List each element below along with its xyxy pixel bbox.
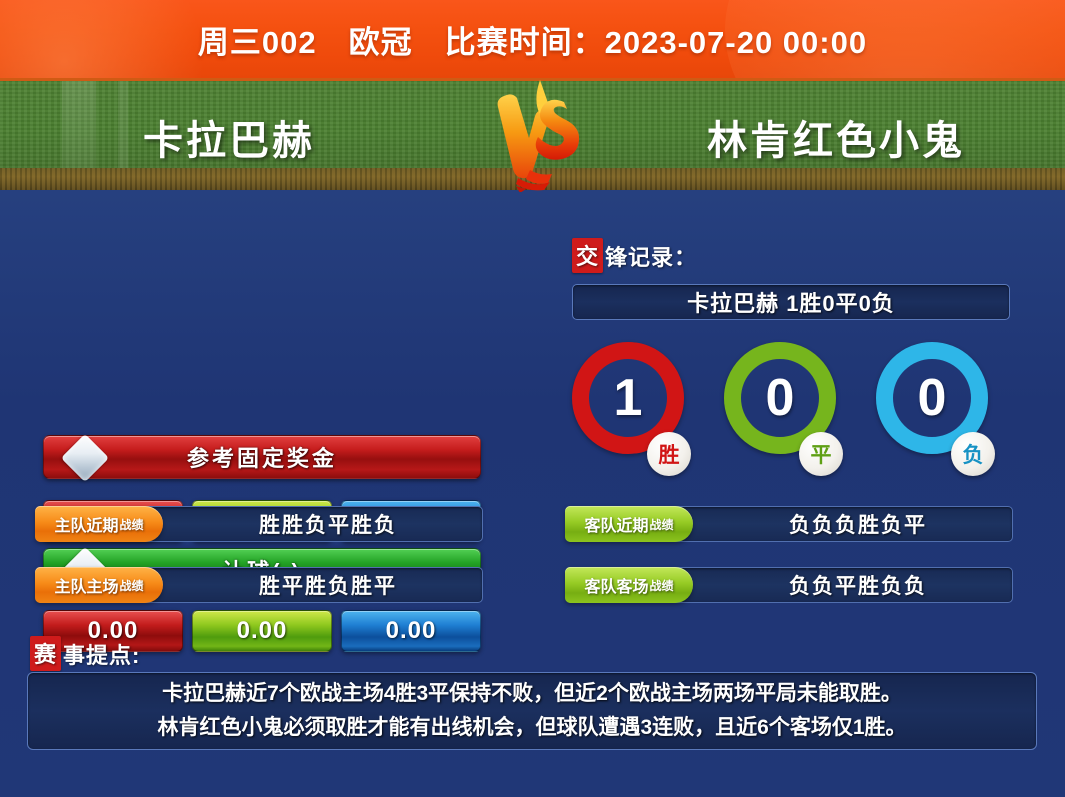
header-bar: 周三002 欧冠 比赛时间：2023-07-20 00:00 [0, 0, 1065, 78]
page-title: 周三002 欧冠 比赛时间：2023-07-20 00:00 [0, 0, 1065, 78]
home-recent-form-tag: 主队近期 战绩 [35, 506, 163, 542]
tag-main-text: 客队客场 [584, 573, 648, 597]
tag-sub-text: 战绩 [120, 577, 144, 594]
home-team-name: 卡拉巴赫 [0, 81, 480, 190]
home-recent-form-row: 胜胜负平胜负 主队近期 战绩 [35, 506, 483, 542]
h2h-ring-loss: 0 负 [869, 338, 999, 478]
tag-sub-text: 战绩 [120, 516, 144, 533]
away-venue-form-row: 负负平胜负负 客队客场 战绩 [565, 567, 1013, 603]
match-preview-card: 周三002 欧冠 比赛时间：2023-07-20 00:00 卡拉巴赫 林肯红色… [0, 0, 1065, 797]
home-venue-form-tag: 主队主场 战绩 [35, 567, 163, 603]
h2h-loss-badge: 负 [951, 432, 995, 476]
away-venue-form-tag: 客队客场 战绩 [565, 567, 693, 603]
home-venue-form-row: 胜平胜负胜平 主队主场 战绩 [35, 567, 483, 603]
diamond-gem-icon [61, 434, 109, 482]
main-body: 参考固定奖金 0.00 0.00 0.00 让球( ) 0.00 0.00 0.… [0, 190, 1065, 797]
tag-sub-text: 战绩 [650, 516, 674, 533]
tips-label-highlight: 赛 [30, 636, 61, 671]
tag-main-text: 主队近期 [54, 512, 118, 536]
away-recent-form-tag: 客队近期 战绩 [565, 506, 693, 542]
away-venue-form-value: 负负平胜负负 [669, 567, 1013, 603]
h2h-ring-draw: 0 平 [717, 338, 847, 478]
away-recent-form-row: 负负负胜负平 客队近期 战绩 [565, 506, 1013, 542]
handicap-odds-away[interactable]: 0.00 [341, 610, 481, 652]
h2h-win-badge: 胜 [647, 432, 691, 476]
h2h-rings: 1 胜 0 平 0 负 [565, 338, 1015, 478]
home-recent-form-value: 胜胜负平胜负 [139, 506, 483, 542]
tag-sub-text: 战绩 [650, 577, 674, 594]
fixed-bonus-title: 参考固定奖金 [187, 441, 337, 473]
away-team-name: 林肯红色小鬼 [585, 81, 1065, 190]
tag-main-text: 客队近期 [584, 512, 648, 536]
home-venue-form-value: 胜平胜负胜平 [139, 567, 483, 603]
away-recent-form-value: 负负负胜负平 [669, 506, 1013, 542]
h2h-summary: 卡拉巴赫 1胜0平0负 [572, 284, 1010, 320]
h2h-label-highlight: 交 [572, 238, 603, 273]
h2h-section-label: 交 锋记录： [572, 238, 697, 273]
match-tips-line-1: 卡拉巴赫近7个欧战主场4胜3平保持不败，但近2个欧战主场两场平局未能取胜。 [162, 677, 902, 711]
tips-section-label: 赛 事提点: [30, 636, 140, 671]
h2h-label-text: 锋记录： [605, 240, 697, 272]
tips-label-text: 事提点: [63, 638, 140, 670]
match-tips-box: 卡拉巴赫近7个欧战主场4胜3平保持不败，但近2个欧战主场两场平局未能取胜。 林肯… [27, 672, 1037, 750]
handicap-odds-draw[interactable]: 0.00 [192, 610, 332, 652]
vs-flame-icon [492, 74, 584, 192]
match-tips-line-2: 林肯红色小鬼必须取胜才能有出线机会，但球队遭遇3连败，且近6个客场仅1胜。 [157, 711, 906, 745]
fixed-bonus-header: 参考固定奖金 [43, 435, 481, 479]
tag-main-text: 主队主场 [54, 573, 118, 597]
h2h-ring-win: 1 胜 [565, 338, 695, 478]
h2h-draw-badge: 平 [799, 432, 843, 476]
